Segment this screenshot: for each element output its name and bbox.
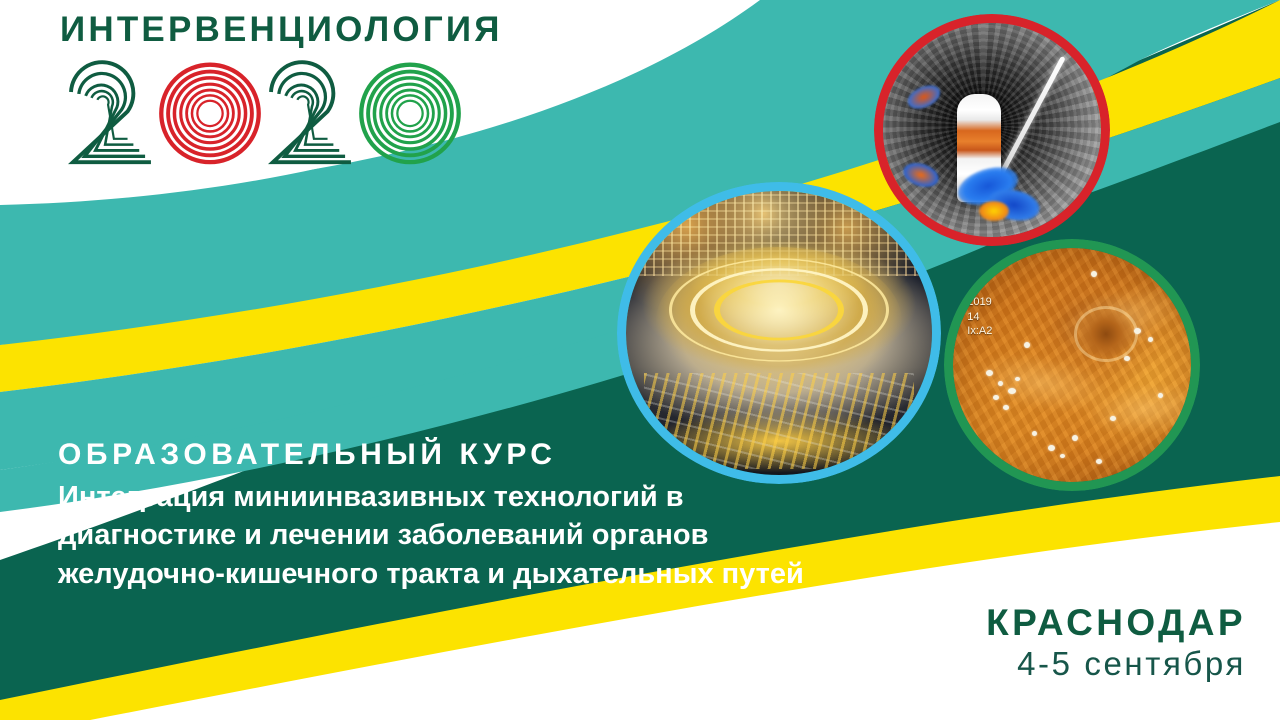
endoscopy-overlay-text: 2019 14 Ix:A2 xyxy=(967,295,992,340)
course-kicker: ОБРАЗОВАТЕЛЬНЫЙ КУРС xyxy=(58,438,898,472)
stadium-pitch-ring xyxy=(714,280,844,341)
event-city: КРАСНОДАР xyxy=(986,604,1246,643)
endoscopy-photo-image: 2019 14 Ix:A2 xyxy=(953,248,1191,482)
digit-two-first xyxy=(60,53,160,168)
doppler-blob-hot xyxy=(979,201,1009,221)
digit-two-second xyxy=(260,53,360,168)
ultrasound-photo xyxy=(874,14,1110,246)
course-title-line-1: Интеграция миниинвазивных технологий в xyxy=(58,478,898,517)
digit-zero-second xyxy=(356,53,464,168)
endoscopy-overlay-line3: Ix:A2 xyxy=(967,324,992,339)
logo-year-2020 xyxy=(60,53,460,168)
endoscopy-photo: 2019 14 Ix:A2 xyxy=(944,239,1200,491)
event-date: 4-5 сентября xyxy=(986,645,1246,683)
endoscopy-overlay-line1: 2019 xyxy=(967,295,992,310)
ultrasound-photo-image xyxy=(883,23,1101,237)
endoscopy-overlay-line2: 14 xyxy=(967,310,992,325)
event-logo: ИНТЕРВЕНЦИОЛОГИЯ xyxy=(60,12,480,168)
event-banner: ИНТЕРВЕНЦИОЛОГИЯ xyxy=(0,0,1280,720)
digit-zero-first xyxy=(156,53,264,168)
logo-wordmark: ИНТЕРВЕНЦИОЛОГИЯ xyxy=(60,12,480,47)
place-and-date-block: КРАСНОДАР 4-5 сентября xyxy=(986,604,1246,683)
endoscopy-debris xyxy=(953,248,1191,482)
course-title: Интеграция миниинвазивных технологий в д… xyxy=(58,478,898,594)
course-title-line-3: желудочно-кишечного тракта и дыхательных… xyxy=(58,555,898,594)
course-text-block: ОБРАЗОВАТЕЛЬНЫЙ КУРС Интеграция миниинва… xyxy=(58,438,898,593)
course-title-line-2: диагностике и лечении заболеваний органо… xyxy=(58,516,898,555)
